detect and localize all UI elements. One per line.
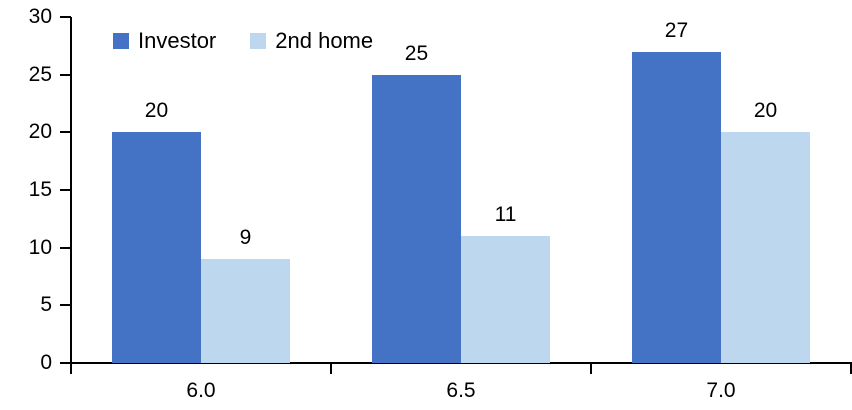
bar-value-label: 9	[206, 227, 286, 248]
x-axis-tick-label: 6.0	[141, 380, 261, 401]
y-axis-tick	[60, 16, 71, 18]
y-axis-tick-label: 30	[0, 6, 52, 27]
bar-value-label: 25	[376, 43, 456, 64]
y-axis-tick-label: 15	[0, 179, 52, 200]
y-axis-tick	[60, 131, 71, 133]
y-axis-tick-label: 5	[0, 294, 52, 315]
y-axis-tick	[60, 189, 71, 191]
bar-investor-7.0	[632, 52, 721, 363]
y-axis-tick-label: 10	[0, 237, 52, 258]
y-axis-tick	[60, 74, 71, 76]
x-axis-tick	[330, 362, 332, 374]
y-axis-tick-label: 0	[0, 352, 52, 373]
legend-swatch-icon	[113, 33, 129, 49]
legend-swatch-icon	[250, 33, 266, 49]
bar-2nd-home-6.5	[461, 236, 550, 363]
legend-item-2nd-home[interactable]: 2nd home	[250, 30, 373, 52]
bar-chart: 051015202530 6.06.57.0 20925112720 Inves…	[0, 0, 852, 410]
x-axis-tick	[590, 362, 592, 374]
chart-legend: Investor2nd home	[113, 30, 373, 52]
bar-value-label: 27	[636, 20, 716, 41]
x-axis-tick-label: 7.0	[661, 380, 781, 401]
y-axis-tick-label: 25	[0, 64, 52, 85]
bar-2nd-home-7.0	[721, 132, 810, 363]
y-axis-tick	[60, 247, 71, 249]
x-axis-tick	[70, 362, 72, 374]
bar-value-label: 11	[466, 204, 546, 225]
bar-2nd-home-6.0	[201, 259, 290, 363]
bar-value-label: 20	[116, 100, 196, 121]
legend-label: 2nd home	[275, 30, 373, 52]
x-axis-tick-label: 6.5	[401, 380, 521, 401]
bar-investor-6.5	[372, 75, 461, 363]
legend-item-investor[interactable]: Investor	[113, 30, 216, 52]
y-axis-tick-label: 20	[0, 121, 52, 142]
bar-value-label: 20	[726, 100, 806, 121]
bar-investor-6.0	[112, 132, 201, 363]
legend-label: Investor	[138, 30, 216, 52]
y-axis-tick	[60, 304, 71, 306]
